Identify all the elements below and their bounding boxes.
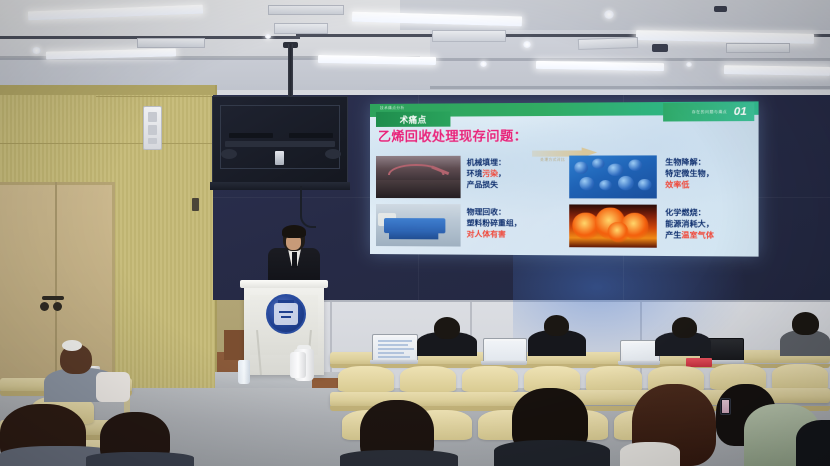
ceiling-mount-pole	[288, 44, 293, 100]
slide-section-number: 01	[734, 106, 747, 118]
slide-item-landfill-text: 机械填埋： 环境污染， 产品损失	[467, 158, 506, 191]
bracket-shelf	[210, 182, 350, 190]
smartphone[interactable]	[720, 398, 731, 415]
audience-arm	[96, 372, 130, 402]
ceiling-downlight	[523, 41, 531, 48]
slide-section-mini-label: 存在的问题与痛点	[692, 109, 728, 114]
item-line3: 产品损失	[467, 180, 506, 191]
slide-item-combustion-text: 化学燃烧： 能源消耗大， 产生温室气体	[665, 208, 714, 241]
slide-image-flames	[569, 204, 657, 247]
audience-head	[672, 317, 697, 338]
slide-section-number-badge: 存在的问题与痛点 01	[663, 102, 754, 121]
ceiling-vent	[137, 38, 205, 48]
audience-torso	[620, 442, 680, 466]
item-line2: 特定微生物，	[665, 168, 714, 179]
ceiling-downlight	[480, 61, 487, 67]
ceiling-light-panel	[724, 65, 830, 76]
hair-clip	[62, 340, 82, 351]
wall-groove	[0, 143, 215, 144]
ceiling-downlight	[32, 47, 41, 54]
ceiling-downlight	[265, 34, 271, 39]
slide-title: 乙烯回收处理现存问题：	[378, 125, 527, 145]
lecture-hall-photo: 技术痛点分析 术痛点 存在的问题与痛点 01 乙烯回收处理现存问题： 处理方式对…	[0, 0, 830, 466]
audience-head	[792, 312, 819, 335]
ceiling-light-panel	[636, 30, 814, 44]
audience-head	[434, 317, 460, 339]
door-knob[interactable]	[40, 302, 49, 311]
audience-head	[544, 315, 569, 336]
door-knob[interactable]	[53, 302, 62, 311]
ceiling-projector	[652, 44, 668, 52]
ceiling-vent	[432, 30, 506, 42]
audience-torso	[340, 450, 458, 466]
presenter-tie	[292, 252, 297, 268]
double-door[interactable]	[0, 182, 115, 396]
presentation-slide: 技术痛点分析 术痛点 存在的问题与痛点 01 乙烯回收处理现存问题： 处理方式对…	[370, 101, 759, 256]
audience-torso	[796, 420, 830, 466]
seat-back	[586, 366, 642, 392]
ceiling-light-panel	[318, 55, 436, 65]
presenter-hair	[282, 225, 306, 238]
slide-section-tag-label: 术痛点	[400, 113, 427, 125]
item-line3: 产生温室气体	[665, 230, 714, 241]
ceiling-vent	[268, 5, 344, 15]
ceiling-slab-left	[0, 0, 430, 58]
wall-groove	[96, 96, 215, 97]
ceiling-vent	[578, 37, 638, 50]
ceiling-sensor	[714, 6, 727, 12]
hanging-cable	[300, 186, 316, 228]
door-handle-bar[interactable]	[42, 296, 64, 300]
seat-back	[400, 366, 456, 392]
seat-back	[338, 366, 394, 392]
ceiling-monitor-bracket	[212, 96, 348, 190]
item-heading: 物理回收：	[467, 207, 522, 218]
ceiling-shadow	[430, 86, 830, 89]
slide-tag-mini: 技术痛点分析	[380, 106, 405, 111]
slide-item-biodegradation-text: 生物降解： 特定微生物， 效率低	[665, 157, 714, 190]
item-line3: 效率低	[665, 180, 714, 191]
item-heading: 机械填埋：	[467, 158, 506, 169]
seat-back	[462, 366, 518, 392]
slide-image-shredder	[376, 204, 461, 247]
red-object-on-desk	[686, 358, 712, 367]
ceiling-downlight	[686, 62, 692, 67]
desk-row-mid-left	[330, 392, 530, 407]
light-switch[interactable]	[192, 198, 199, 211]
podium-emblem-icon	[266, 294, 306, 334]
water-bottle	[238, 360, 250, 384]
ceiling-downlight	[604, 10, 614, 19]
audience-torso	[494, 440, 610, 466]
podium-top-surface	[240, 280, 328, 288]
wall-speaker	[143, 106, 162, 150]
slide-image-microbes	[569, 155, 657, 198]
item-line2: 塑料粉碎重组，	[467, 218, 522, 229]
slide-section-tag: 术痛点	[376, 112, 450, 127]
process-arrow-label: 处理方式对比	[540, 158, 565, 163]
item-line2: 能源消耗大，	[665, 219, 714, 230]
slide-item-physical-text: 物理回收： 塑料粉碎重组， 对人体有害	[467, 207, 522, 240]
item-line3: 对人体有害	[467, 229, 522, 240]
item-heading: 化学燃烧：	[665, 208, 714, 219]
ceiling-vent	[726, 43, 790, 53]
ceiling-light-panel	[536, 61, 664, 71]
door-center-seam	[55, 182, 57, 390]
ceiling-vent	[274, 23, 328, 34]
slide-image-landfill	[376, 156, 461, 198]
item-heading: 生物降解：	[665, 157, 714, 168]
seat-back	[772, 364, 828, 390]
item-line2: 环境污染，	[467, 169, 506, 180]
thermos-foreground	[290, 352, 306, 378]
audience-torso	[86, 452, 194, 466]
wood-wall-cornice	[0, 85, 215, 95]
